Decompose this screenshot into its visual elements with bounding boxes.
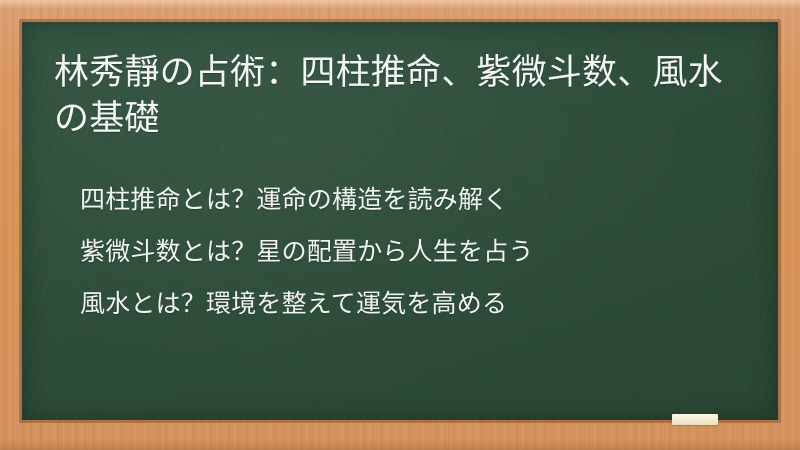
topic-list: 四柱推命とは？運命の構造を読み解く 紫微斗数とは？星の配置から人生を占う 風水と… bbox=[80, 174, 770, 330]
list-item: 風水とは？環境を整えて運気を高める bbox=[80, 278, 770, 330]
blackboard: 林秀靜の占術：四柱推命、紫微斗数、風水の基礎 四柱推命とは？運命の構造を読み解く… bbox=[22, 22, 778, 420]
wood-top-highlight bbox=[0, 0, 800, 9]
wood-bottom-shadow bbox=[0, 440, 800, 450]
thumbnail-canvas: 林秀靜の占術：四柱推命、紫微斗数、風水の基礎 四柱推命とは？運命の構造を読み解く… bbox=[0, 0, 800, 450]
page-title: 林秀靜の占術：四柱推命、紫微斗数、風水の基礎 bbox=[54, 50, 754, 142]
list-item: 四柱推命とは？運命の構造を読み解く bbox=[80, 174, 770, 226]
chalk-piece-icon bbox=[672, 414, 718, 425]
list-item: 紫微斗数とは？星の配置から人生を占う bbox=[80, 226, 770, 278]
